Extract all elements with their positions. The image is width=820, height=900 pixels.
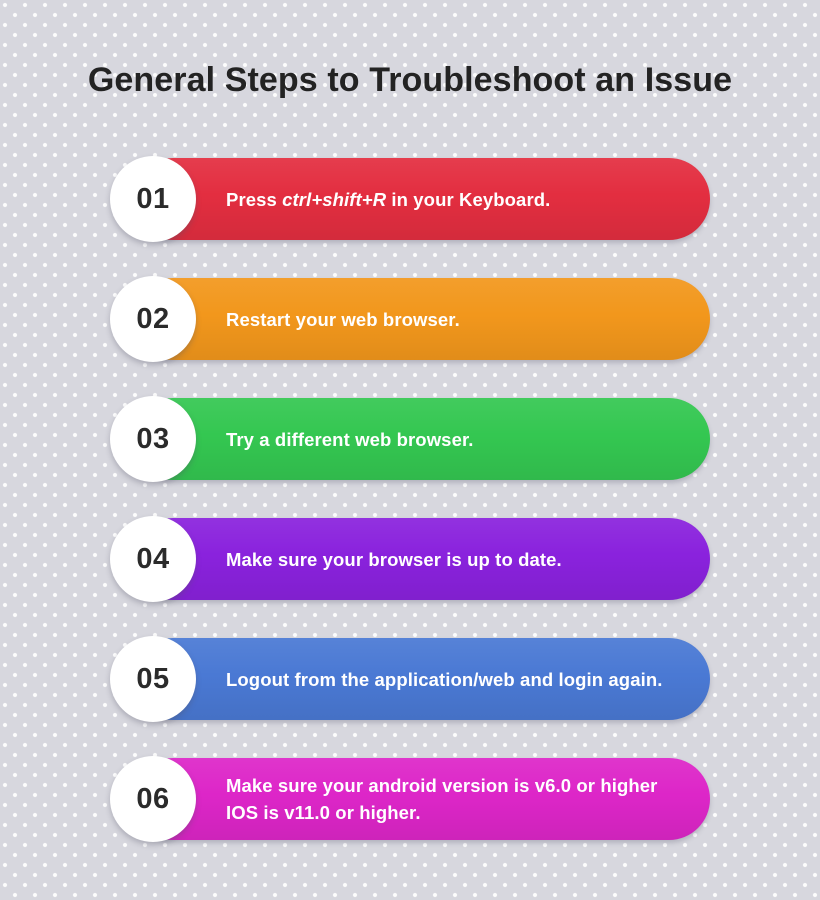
step-row: Make sure your android version is v6.0 o… — [110, 758, 710, 840]
step-bar-02: Restart your web browser. — [132, 278, 710, 360]
step-text-after: in your Keyboard. — [386, 189, 550, 210]
step-bar-01: Press ctrl+shift+R in your Keyboard. — [132, 158, 710, 240]
step-badge-03: 03 — [110, 396, 196, 482]
step-text-line: Make sure your android version is v6.0 o… — [226, 772, 657, 799]
step-text-04: Make sure your browser is up to date. — [226, 546, 586, 573]
step-row: Make sure your browser is up to date. 04 — [110, 518, 710, 600]
step-badge-01: 01 — [110, 156, 196, 242]
step-row: Press ctrl+shift+R in your Keyboard. 01 — [110, 158, 710, 240]
step-bar-04: Make sure your browser is up to date. — [132, 518, 710, 600]
step-bar-03: Try a different web browser. — [132, 398, 710, 480]
step-badge-02: 02 — [110, 276, 196, 362]
step-bar-06: Make sure your android version is v6.0 o… — [132, 758, 710, 840]
step-number: 03 — [136, 425, 169, 454]
step-text-line: Make sure your browser is up to date. — [226, 546, 562, 573]
step-bar-05: Logout from the application/web and logi… — [132, 638, 710, 720]
step-text-01: Press ctrl+shift+R in your Keyboard. — [226, 186, 574, 213]
keyboard-shortcut: ctrl+shift+R — [282, 189, 386, 210]
page-title: General Steps to Troubleshoot an Issue — [0, 58, 820, 102]
step-text-before: Press — [226, 189, 282, 210]
step-badge-05: 05 — [110, 636, 196, 722]
step-badge-06: 06 — [110, 756, 196, 842]
step-row: Restart your web browser. 02 — [110, 278, 710, 360]
step-text-line-2: IOS is v11.0 or higher. — [226, 799, 657, 826]
step-text-line: Restart your web browser. — [226, 306, 460, 333]
step-text-line: Logout from the application/web and logi… — [226, 666, 662, 693]
step-text-05: Logout from the application/web and logi… — [226, 666, 686, 693]
step-number: 02 — [136, 305, 169, 334]
step-number: 01 — [136, 185, 169, 214]
step-row: Logout from the application/web and logi… — [110, 638, 710, 720]
step-badge-04: 04 — [110, 516, 196, 602]
step-number: 06 — [136, 785, 169, 814]
step-number: 04 — [136, 545, 169, 574]
step-text-06: Make sure your android version is v6.0 o… — [226, 772, 681, 826]
step-text-03: Try a different web browser. — [226, 426, 497, 453]
infographic-page: General Steps to Troubleshoot an Issue P… — [0, 0, 820, 900]
step-text-02: Restart your web browser. — [226, 306, 484, 333]
step-text-line: Try a different web browser. — [226, 426, 473, 453]
step-number: 05 — [136, 665, 169, 694]
step-row: Try a different web browser. 03 — [110, 398, 710, 480]
steps-list: Press ctrl+shift+R in your Keyboard. 01 … — [0, 158, 820, 878]
